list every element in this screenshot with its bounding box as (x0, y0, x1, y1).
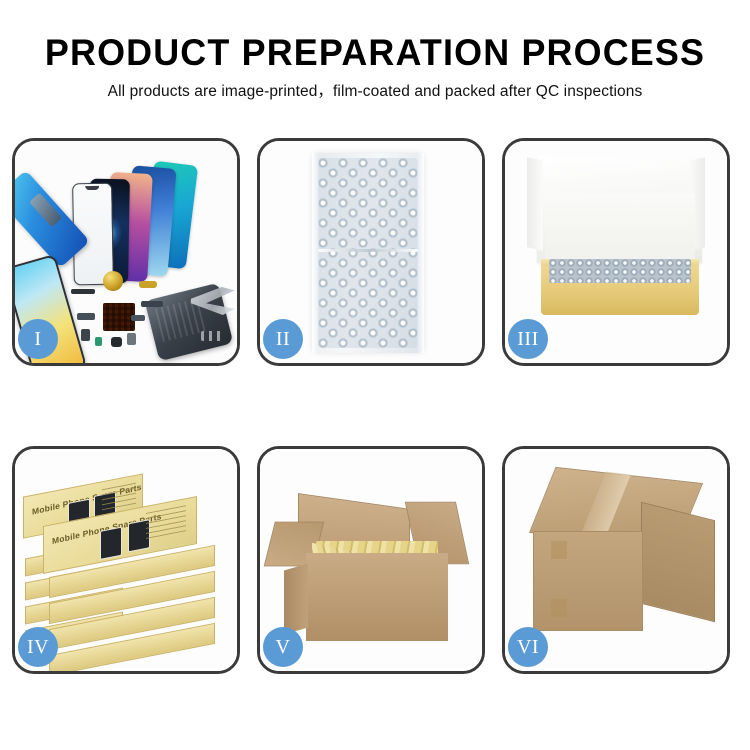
process-step-panel-2: II (257, 138, 485, 366)
page-subtitle: All products are image-printed，film-coat… (0, 82, 750, 102)
process-step-panel-6: VI (502, 446, 730, 674)
process-step-grid: I II (12, 138, 738, 674)
process-step-panel-3: III (502, 138, 730, 366)
step-number-badge-5: V (263, 627, 303, 667)
step-number-badge-1: I (18, 319, 58, 359)
step-number-badge-2: II (263, 319, 303, 359)
process-step-panel-4: Mobile Phone Spare Parts Mobile Phone Sp… (12, 446, 240, 674)
step-number-badge-6: VI (508, 627, 548, 667)
page-header: PRODUCT PREPARATION PROCESS All products… (0, 0, 750, 102)
process-step-panel-5: V (257, 446, 485, 674)
page-title: PRODUCT PREPARATION PROCESS (11, 30, 739, 76)
step-number-badge-3: III (508, 319, 548, 359)
process-step-panel-1: I (12, 138, 240, 366)
step-number-badge-4: IV (18, 627, 58, 667)
